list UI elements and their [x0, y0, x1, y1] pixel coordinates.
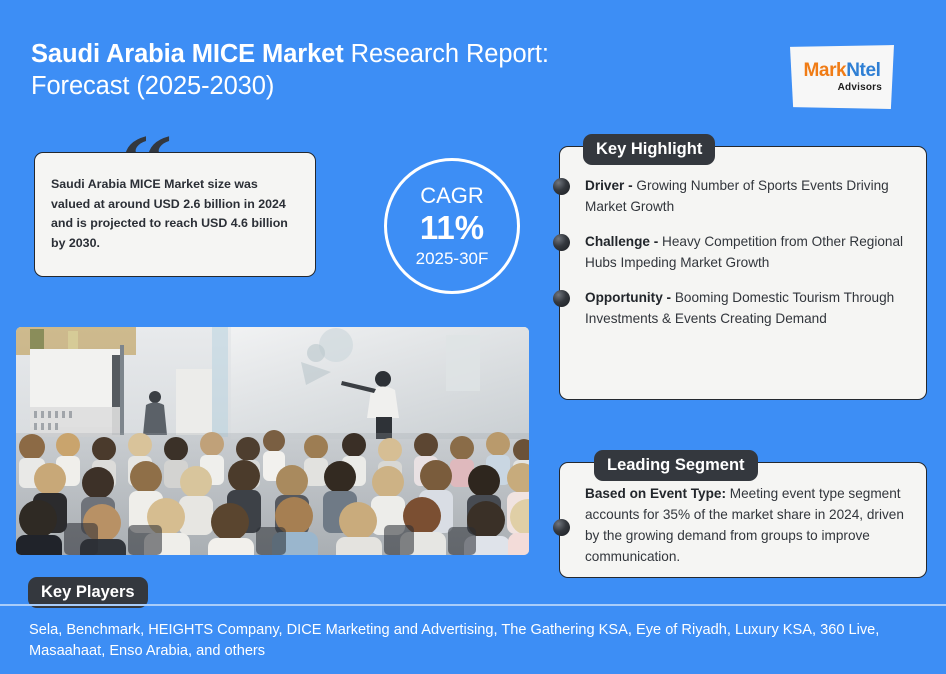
cagr-circle: CAGR 11% 2025-30F: [384, 158, 520, 294]
leading-segment-item: Based on Event Type: Meeting event type …: [585, 483, 910, 567]
header: Saudi Arabia MICE Market Research Report…: [0, 0, 946, 122]
key-highlight-opportunity-text: Opportunity - Booming Domestic Tourism T…: [585, 287, 908, 329]
key-highlight-item-challenge: Challenge - Heavy Competition from Other…: [585, 231, 908, 273]
bullet-dot-icon: [553, 234, 570, 251]
page-title-light: Research Report:: [344, 40, 549, 68]
logo-word-ntel: Ntel: [846, 60, 880, 81]
logo-word-mark: Mark: [803, 60, 846, 81]
key-players-text: Sela, Benchmark, HEIGHTS Company, DICE M…: [29, 620, 909, 662]
key-highlight-item-opportunity: Opportunity - Booming Domestic Tourism T…: [585, 287, 908, 329]
logo-subtitle: Advisors: [838, 82, 882, 93]
key-players-divider: [0, 604, 946, 606]
key-highlight-driver-text: Driver - Growing Number of Sports Events…: [585, 175, 908, 217]
key-highlight-challenge-text: Challenge - Heavy Competition from Other…: [585, 231, 908, 273]
key-highlight-item-driver: Driver - Growing Number of Sports Events…: [585, 175, 908, 217]
cagr-label: CAGR: [420, 182, 484, 209]
logo-wordmark: MarkNtel: [803, 61, 880, 81]
bullet-dot-icon: [553, 178, 570, 195]
conference-audience-photo: [16, 327, 529, 555]
cagr-period: 2025-30F: [416, 247, 489, 271]
market-size-quote-card: Saudi Arabia MICE Market size was valued…: [34, 152, 316, 277]
brand-logo: MarkNtel Advisors: [790, 45, 894, 109]
bullet-dot-icon: [553, 290, 570, 307]
key-highlight-driver-label: Driver -: [585, 178, 636, 193]
conference-audience-illustration: [16, 327, 529, 555]
cagr-value: 11%: [420, 209, 484, 247]
key-highlight-card: Driver - Growing Number of Sports Events…: [559, 146, 927, 400]
page-title-bold: Saudi Arabia MICE Market: [31, 40, 344, 68]
leading-segment-text: Based on Event Type: Meeting event type …: [585, 483, 910, 567]
leading-segment-label: Based on Event Type:: [585, 486, 726, 501]
key-highlight-opportunity-label: Opportunity -: [585, 290, 675, 305]
market-size-text: Saudi Arabia MICE Market size was valued…: [51, 175, 299, 253]
page-title: Saudi Arabia MICE Market Research Report…: [31, 38, 631, 102]
key-highlight-challenge-label: Challenge -: [585, 234, 662, 249]
key-highlight-badge: Key Highlight: [583, 134, 715, 165]
page-title-line2: Forecast (2025-2030): [31, 72, 274, 100]
leading-segment-badge: Leading Segment: [594, 450, 758, 481]
bullet-dot-icon: [553, 519, 570, 536]
